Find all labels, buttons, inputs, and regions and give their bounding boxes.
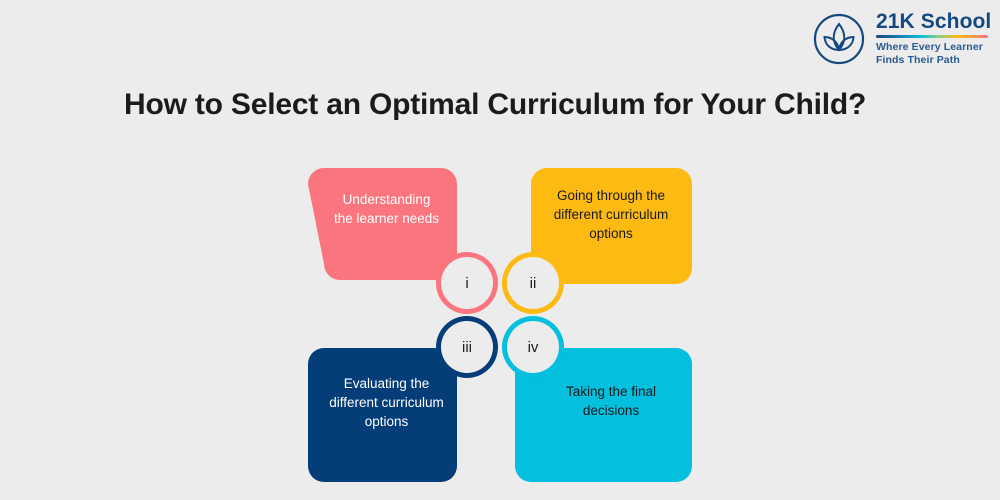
lotus-circle-logo-icon (812, 12, 866, 66)
step-numeral-iii[interactable]: iii (441, 321, 493, 373)
brand-gradient-rule (876, 35, 988, 38)
brand-logo: 21K School Where Every Learner Finds The… (812, 11, 1000, 68)
step-numeral-iv[interactable]: iv (507, 321, 559, 373)
curriculum-steps-diagram: Understanding the learner needs Going th… (300, 160, 700, 490)
brand-tagline: Where Every Learner Finds Their Path (876, 41, 1000, 68)
brand-name: 21K School (876, 11, 1000, 33)
step-numeral-i[interactable]: i (441, 257, 493, 309)
infographic-page: 21K School Where Every Learner Finds The… (0, 0, 1000, 500)
page-title: How to Select an Optimal Curriculum for … (124, 88, 866, 122)
step-numeral-ii[interactable]: ii (507, 257, 559, 309)
diagram-shapes (300, 160, 700, 490)
